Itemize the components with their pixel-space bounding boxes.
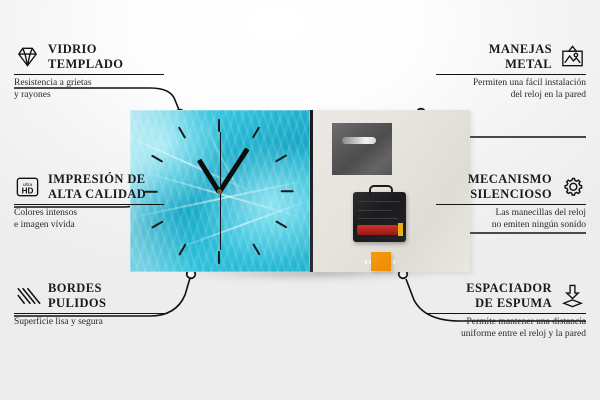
callout-title-line1: MANEJAS — [489, 42, 552, 57]
callout-title-line2: METAL — [489, 57, 552, 72]
clock-tick — [252, 243, 261, 255]
hanger-slot — [342, 137, 376, 144]
clock-tick — [178, 126, 187, 138]
callout-title-line2: ALTA CALIDAD — [48, 187, 146, 202]
metal-hanger-plate — [332, 123, 392, 175]
callout-desc-line1: Permiten una fácil instalación — [436, 78, 586, 90]
diagonal-lines-icon — [14, 283, 41, 309]
callout-title-line2: SILENCIOSO — [468, 187, 552, 202]
callout-title-line2: TEMPLADO — [48, 57, 123, 72]
callout-title-line1: IMPRESIÓN DE — [48, 172, 146, 187]
callout-desc-line2: y rayones — [14, 90, 164, 102]
callout-desc-line1: Superficie lisa y segura — [14, 317, 164, 329]
callout-title-line2: PULIDOS — [48, 296, 106, 311]
battery-cap — [398, 223, 403, 236]
callout-rule — [14, 313, 164, 314]
callout-manejas-metal: MANEJAS METAL Permiten una fácil instala… — [436, 42, 586, 101]
battery — [357, 225, 398, 235]
callout-rule — [436, 204, 586, 205]
picture-frame-hanging-icon — [559, 44, 586, 70]
clock-tick — [275, 220, 287, 229]
mechanism-hook — [369, 185, 393, 196]
clock-tick — [218, 119, 220, 132]
callout-title-line1: BORDES — [48, 281, 106, 296]
callout-impresion-alta-calidad: ultra HD IMPRESIÓN DE ALTA CALIDAD Color… — [14, 172, 164, 231]
infographic-canvas: VIDRIO TEMPLADO Resistencia a grietas y … — [0, 0, 600, 400]
quartz-mechanism-box — [353, 192, 406, 242]
callout-desc-line2: uniforme entre el reloj y la pared — [426, 329, 586, 341]
callout-rule — [426, 313, 586, 314]
foam-spacer-pad — [371, 252, 391, 271]
callout-title-line1: VIDRIO — [48, 42, 123, 57]
ultra-hd-icon: ultra HD — [14, 174, 41, 200]
callout-rule — [14, 204, 164, 205]
arrow-down-plate-icon — [559, 283, 586, 309]
clock-tick — [252, 126, 261, 138]
callout-rule — [436, 74, 586, 75]
callout-desc-line1: Resistencia a grietas — [14, 78, 164, 90]
callout-vidrio-templado: VIDRIO TEMPLADO Resistencia a grietas y … — [14, 42, 164, 101]
svg-text:HD: HD — [22, 186, 34, 195]
callout-desc-line2: del reloj en la pared — [436, 90, 586, 102]
clock-tick — [281, 190, 294, 192]
clock-tick — [151, 154, 163, 163]
callout-mecanismo-silencioso: MECANISMO SILENCIOSO Las manecillas del … — [436, 172, 586, 231]
callout-desc-line1: Colores intensos — [14, 208, 164, 220]
callout-rule — [14, 74, 164, 75]
callout-title-line1: MECANISMO — [468, 172, 552, 187]
clock-tick — [275, 154, 287, 163]
callout-espaciador-espuma: ESPACIADOR DE ESPUMA Permite mantener un… — [426, 281, 586, 340]
callout-desc-line1: Las manecillas del reloj — [436, 208, 586, 220]
callout-desc-line1: Permite mantener una distancia — [426, 317, 586, 329]
callout-title-line2: DE ESPUMA — [466, 296, 552, 311]
callout-bordes-pulidos: BORDES PULIDOS Superficie lisa y segura — [14, 281, 164, 329]
gear-icon — [559, 174, 586, 200]
callout-title-line1: ESPACIADOR — [466, 281, 552, 296]
diamond-icon — [14, 44, 41, 70]
clock-center-cap — [217, 189, 222, 194]
clock-tick — [218, 251, 220, 264]
callout-desc-line2: no emiten ningún sonido — [436, 220, 586, 232]
callout-desc-line2: e imagen vívida — [14, 220, 164, 232]
